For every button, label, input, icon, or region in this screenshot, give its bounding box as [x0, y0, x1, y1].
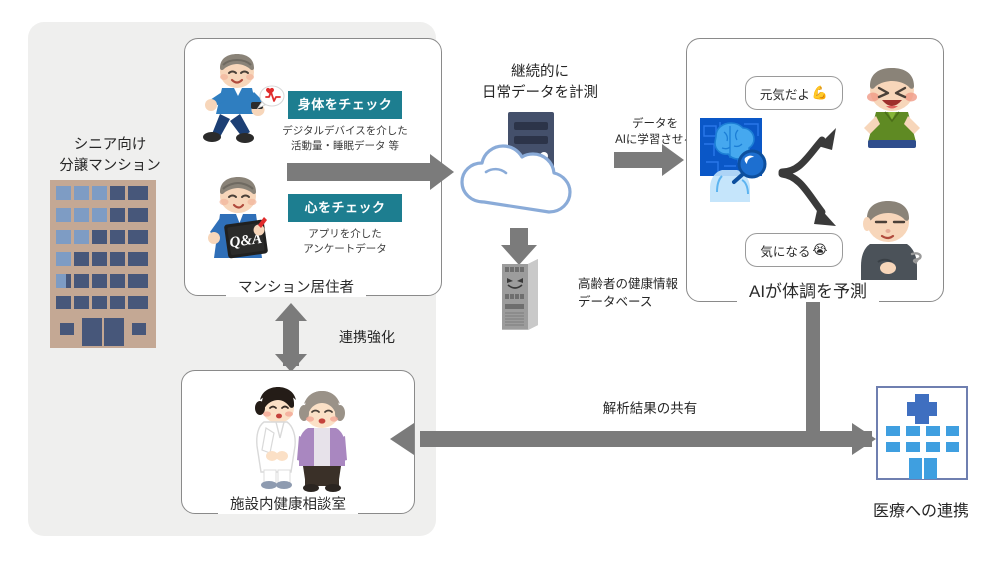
- apartment-building-icon: [48, 178, 158, 350]
- crying-face-icon: 😭: [812, 242, 827, 258]
- cooperation-label: 連携強化: [322, 327, 412, 347]
- nurse-and-resident-illustration: [236, 386, 360, 490]
- badge-body-check: 身体をチェック: [288, 91, 402, 119]
- arrow-share-results-head-left: [390, 423, 414, 455]
- arrow-residents-to-cloud-shaft: [287, 163, 435, 181]
- speech-bubble-worried-text: 気になる: [760, 241, 810, 260]
- speech-bubble-healthy: 元気だよ 💪: [745, 76, 843, 110]
- badge-body-check-sub: デジタルデバイスを介した 活動量・睡眠データ 等: [279, 124, 411, 154]
- flexed-biceps-icon: 💪: [812, 85, 828, 101]
- hospital-label: 医療への連携: [861, 500, 981, 523]
- arrow-share-results-shaft: [420, 431, 872, 447]
- speech-bubble-worried: 気になる 😭: [745, 233, 843, 267]
- badge-mind-check-sub: アプリを介した アンケートデータ: [288, 227, 402, 257]
- arrow-share-results-head-right: [852, 423, 876, 455]
- walking-senior-illustration: [196, 52, 284, 144]
- arrow-cloud-to-ai-head: [662, 144, 684, 176]
- badge-mind-check: 心をチェック: [288, 194, 402, 222]
- qa-senior-illustration: Q&A: [196, 172, 284, 266]
- ai-card-caption: AIが体調を予測: [737, 283, 879, 302]
- unwell-senior-illustration: [852, 196, 932, 280]
- clinic-card-caption: 施設内健康相談室: [218, 498, 358, 514]
- hospital-icon: [876, 386, 968, 480]
- mansion-title: シニア向け 分譲マンション: [50, 135, 170, 177]
- diagram-canvas: シニア向け 分譲マンション: [0, 0, 1000, 561]
- share-results-label: 解析結果の共有: [585, 399, 715, 419]
- arrow-cooperation-head-up: [275, 303, 307, 321]
- ai-brain-icon: [700, 118, 778, 204]
- healthy-senior-illustration: [852, 62, 932, 154]
- residents-card-caption: マンション居住者: [226, 281, 366, 297]
- continuous-measurement-title: 継続的に 日常データを計測: [470, 62, 610, 104]
- speech-bubble-healthy-text: 元気だよ: [760, 84, 810, 103]
- cloud-server-icon: [448, 110, 608, 230]
- arrow-ai-down-riser: [806, 302, 820, 437]
- database-server-icon: [498, 258, 542, 330]
